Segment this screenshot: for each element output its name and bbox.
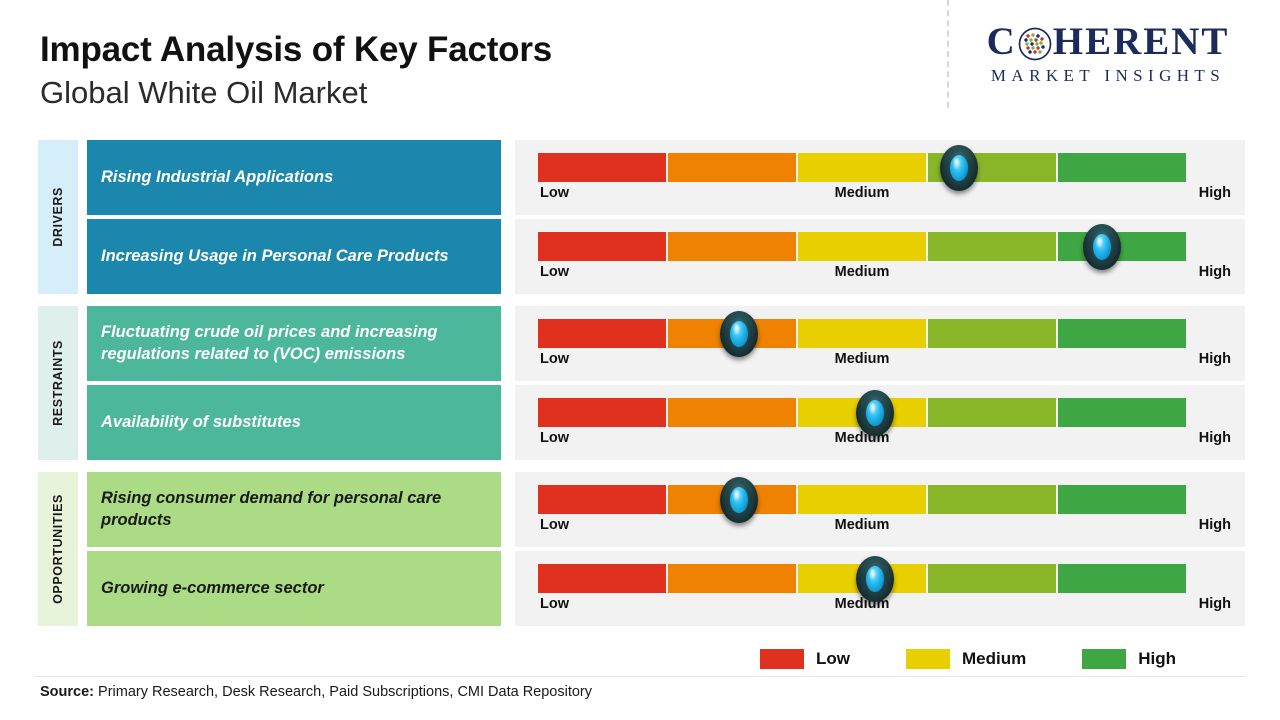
scale-label-low: Low — [540, 596, 569, 612]
factor-box[interactable]: Rising Industrial Applications — [87, 140, 501, 215]
category-group-opportunities: OPPORTUNITIESRising consumer demand for … — [0, 472, 1280, 630]
logo-wordmark-rest: HERENT — [1053, 22, 1230, 61]
gauge-segment-5 — [1058, 485, 1186, 514]
factor-box[interactable]: Increasing Usage in Personal Care Produc… — [87, 219, 501, 294]
gauge-segment-2 — [668, 153, 798, 182]
scale-label-medium: Medium — [835, 430, 890, 446]
gauge-scale-labels: LowMediumHigh — [538, 430, 1186, 452]
gauge-segment-1 — [538, 153, 668, 182]
scale-label-low: Low — [540, 264, 569, 280]
factor-box[interactable]: Fluctuating crude oil prices and increas… — [87, 306, 501, 381]
gauge-segment-5 — [1058, 232, 1186, 261]
impact-gauge: LowMediumHigh — [515, 140, 1245, 215]
impact-row: Growing e-commerce sectorLowMediumHigh — [0, 551, 1280, 626]
scale-label-low: Low — [540, 430, 569, 446]
legend-item: Low — [760, 649, 850, 669]
gauge-segment-3 — [798, 564, 928, 593]
scale-label-low: Low — [540, 185, 569, 201]
gauge-bar — [538, 564, 1186, 593]
impact-gauge: LowMediumHigh — [515, 551, 1245, 626]
gauge-segment-3 — [798, 319, 928, 348]
category-group-drivers: DRIVERSRising Industrial ApplicationsLow… — [0, 140, 1280, 298]
gauge-scale-labels: LowMediumHigh — [538, 264, 1186, 286]
impact-matrix: DRIVERSRising Industrial ApplicationsLow… — [0, 140, 1280, 638]
impact-row: Rising Industrial ApplicationsLowMediumH… — [0, 140, 1280, 215]
gauge-bar — [538, 398, 1186, 427]
scale-label-low: Low — [540, 351, 569, 367]
gauge-segment-1 — [538, 398, 668, 427]
impact-row: Increasing Usage in Personal Care Produc… — [0, 219, 1280, 294]
factor-label: Growing e-commerce sector — [101, 578, 334, 599]
gauge-segment-2 — [668, 398, 798, 427]
factor-label: Availability of substitutes — [101, 412, 311, 433]
scale-label-medium: Medium — [835, 517, 890, 533]
source-separator — [34, 676, 1246, 677]
gauge-segment-5 — [1058, 319, 1186, 348]
gauge-scale-labels: LowMediumHigh — [538, 185, 1186, 207]
scale-label-high: High — [1199, 185, 1231, 201]
coherent-market-insights-logo: C — [958, 22, 1258, 86]
gauge-scale-labels: LowMediumHigh — [538, 351, 1186, 373]
gauge-bar — [538, 232, 1186, 261]
gauge-segment-5 — [1058, 153, 1186, 182]
impact-row: Rising consumer demand for personal care… — [0, 472, 1280, 547]
gauge-bar — [538, 153, 1186, 182]
legend-item: High — [1082, 649, 1176, 669]
legend-swatch — [760, 649, 804, 669]
factor-box[interactable]: Rising consumer demand for personal care… — [87, 472, 501, 547]
scale-label-medium: Medium — [835, 596, 890, 612]
impact-gauge: LowMediumHigh — [515, 219, 1245, 294]
scale-label-medium: Medium — [835, 351, 890, 367]
legend-item: Medium — [906, 649, 1026, 669]
factor-label: Rising consumer demand for personal care… — [101, 488, 501, 530]
impact-row: Fluctuating crude oil prices and increas… — [0, 306, 1280, 381]
legend-swatch — [906, 649, 950, 669]
gauge-segment-3 — [798, 485, 928, 514]
gauge-segment-1 — [538, 485, 668, 514]
scale-label-high: High — [1199, 517, 1231, 533]
gauge-segment-1 — [538, 564, 668, 593]
scale-label-high: High — [1199, 596, 1231, 612]
scale-label-high: High — [1199, 351, 1231, 367]
gauge-segment-4 — [928, 564, 1058, 593]
scale-label-high: High — [1199, 430, 1231, 446]
header: Impact Analysis of Key Factors Global Wh… — [0, 0, 1280, 130]
logo-wordmark: C — [958, 22, 1258, 61]
gauge-bar — [538, 485, 1186, 514]
factor-label: Fluctuating crude oil prices and increas… — [101, 322, 501, 364]
impact-gauge: LowMediumHigh — [515, 306, 1245, 381]
source-note: Source: Primary Research, Desk Research,… — [40, 684, 592, 700]
gauge-segment-3 — [798, 232, 928, 261]
scale-label-high: High — [1199, 264, 1231, 280]
gauge-segment-5 — [1058, 564, 1186, 593]
gauge-segment-2 — [668, 485, 798, 514]
gauge-segment-2 — [668, 232, 798, 261]
gauge-segment-4 — [928, 153, 1058, 182]
gauge-segment-3 — [798, 398, 928, 427]
page-subtitle: Global White Oil Market — [40, 75, 552, 111]
factor-label: Increasing Usage in Personal Care Produc… — [101, 246, 459, 267]
scale-label-low: Low — [540, 517, 569, 533]
impact-gauge: LowMediumHigh — [515, 472, 1245, 547]
globe-dots-icon — [1018, 27, 1052, 61]
source-text: Primary Research, Desk Research, Paid Su… — [94, 684, 592, 700]
source-label: Source: — [40, 684, 94, 700]
gauge-segment-4 — [928, 319, 1058, 348]
factor-box[interactable]: Availability of substitutes — [87, 385, 501, 460]
legend-label: Low — [816, 649, 850, 669]
legend-label: High — [1138, 649, 1176, 669]
impact-row: Availability of substitutesLowMediumHigh — [0, 385, 1280, 460]
gauge-segment-4 — [928, 232, 1058, 261]
category-group-restraints: RESTRAINTSFluctuating crude oil prices a… — [0, 306, 1280, 464]
gauge-segment-4 — [928, 485, 1058, 514]
scale-label-medium: Medium — [835, 264, 890, 280]
header-dashed-divider — [947, 0, 949, 108]
gauge-segment-2 — [668, 564, 798, 593]
gauge-segment-5 — [1058, 398, 1186, 427]
gauge-segment-1 — [538, 232, 668, 261]
legend-swatch — [1082, 649, 1126, 669]
title-block: Impact Analysis of Key Factors Global Wh… — [40, 30, 552, 111]
logo-tagline: MARKET INSIGHTS — [958, 66, 1258, 86]
scale-label-medium: Medium — [835, 185, 890, 201]
factor-label: Rising Industrial Applications — [101, 167, 343, 188]
legend: LowMediumHigh — [760, 644, 1210, 674]
gauge-bar — [538, 319, 1186, 348]
gauge-segment-2 — [668, 319, 798, 348]
factor-box[interactable]: Growing e-commerce sector — [87, 551, 501, 626]
page-title: Impact Analysis of Key Factors — [40, 30, 552, 69]
gauge-segment-4 — [928, 398, 1058, 427]
gauge-segment-3 — [798, 153, 928, 182]
logo-letter-c: C — [987, 22, 1017, 61]
impact-gauge: LowMediumHigh — [515, 385, 1245, 460]
gauge-scale-labels: LowMediumHigh — [538, 517, 1186, 539]
legend-label: Medium — [962, 649, 1026, 669]
gauge-segment-1 — [538, 319, 668, 348]
gauge-scale-labels: LowMediumHigh — [538, 596, 1186, 618]
